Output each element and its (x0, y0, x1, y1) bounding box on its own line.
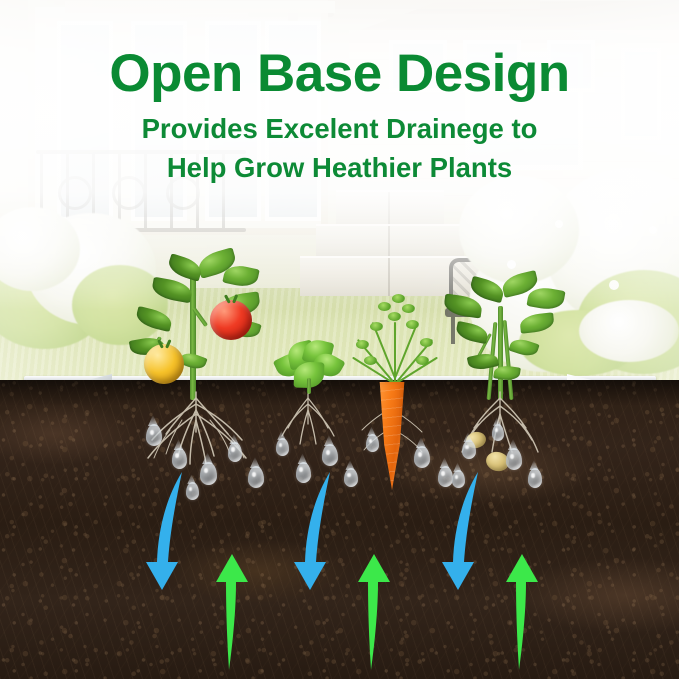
tomato-plant (128, 250, 268, 400)
subtitle-line-2: Help Grow Heathier Plants (0, 150, 679, 187)
arrow-air-up-1 (216, 554, 248, 670)
arrow-water-down-1 (146, 472, 182, 590)
tomato-fruit-yellow (144, 344, 184, 384)
arrow-water-down-2 (294, 472, 330, 590)
drainage-arrows (0, 470, 679, 679)
tomato-fruit-red (210, 300, 252, 340)
marketing-image: Open Base Design Provides Excelent Drain… (0, 0, 679, 679)
page-title: Open Base Design (0, 46, 679, 101)
potato-plant (440, 270, 570, 400)
banner-text: Open Base Design Provides Excelent Drain… (0, 46, 679, 186)
arrow-water-down-3 (442, 472, 478, 590)
subtitle-line-1: Provides Excelent Drainege to (0, 111, 679, 148)
arrow-air-up-2 (358, 554, 390, 670)
lettuce-plant (274, 338, 344, 394)
carrot-plant (348, 288, 444, 398)
arrow-air-up-3 (506, 554, 538, 670)
